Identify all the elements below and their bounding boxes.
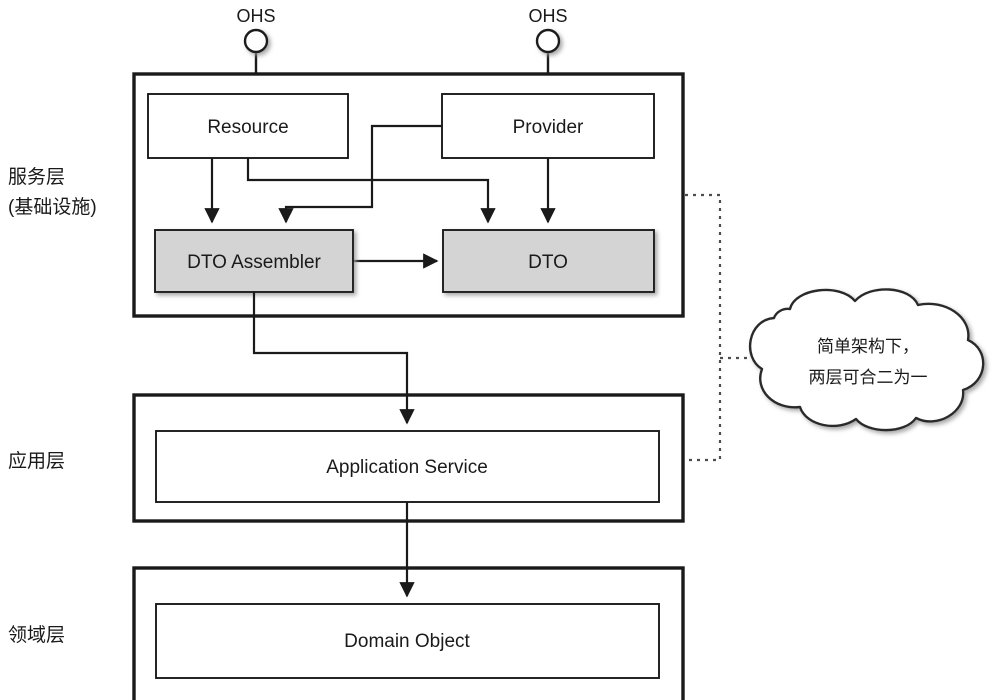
cloud-shape-icon [750,289,983,430]
diagram-canvas: 服务层 (基础设施) 应用层 领域层 OHS OHS [0,0,1000,700]
merge-note-line-2: 两层可合二为一 [809,368,928,387]
ohs-left-circle-icon[interactable] [245,30,267,52]
node-application-service[interactable]: Application Service [156,431,659,502]
node-provider-label: Provider [513,117,584,138]
dotted-connector-layers-bracket [685,195,720,460]
layer-label-service: 服务层 (基础设施) [8,166,97,218]
layer-label-application-line-1: 应用层 [8,450,65,472]
layer-label-service-line-2: (基础设施) [8,196,97,218]
node-provider[interactable]: Provider [442,94,654,158]
ohs-right-circle-icon[interactable] [537,30,559,52]
node-dto-label: DTO [528,252,568,273]
node-resource[interactable]: Resource [148,94,348,158]
merge-note-callout[interactable]: 简单架构下， 两层可合二为一 [750,289,983,430]
node-application-service-label: Application Service [326,457,488,478]
merge-note-line-1: 简单架构下， [817,337,919,356]
node-dto-assembler-label: DTO Assembler [187,252,321,273]
layer-label-domain-line-1: 领域层 [8,624,65,646]
node-resource-label: Resource [207,117,288,138]
node-domain-object-label: Domain Object [344,631,470,652]
ohs-right-label: OHS [528,6,567,26]
layer-label-application: 应用层 [8,450,65,472]
node-dto[interactable]: DTO [443,230,654,292]
node-domain-object[interactable]: Domain Object [156,604,659,678]
layer-label-domain: 领域层 [8,624,65,646]
layer-label-service-line-1: 服务层 [8,166,65,188]
node-dto-assembler[interactable]: DTO Assembler [155,230,353,292]
ohs-left-label: OHS [236,6,275,26]
